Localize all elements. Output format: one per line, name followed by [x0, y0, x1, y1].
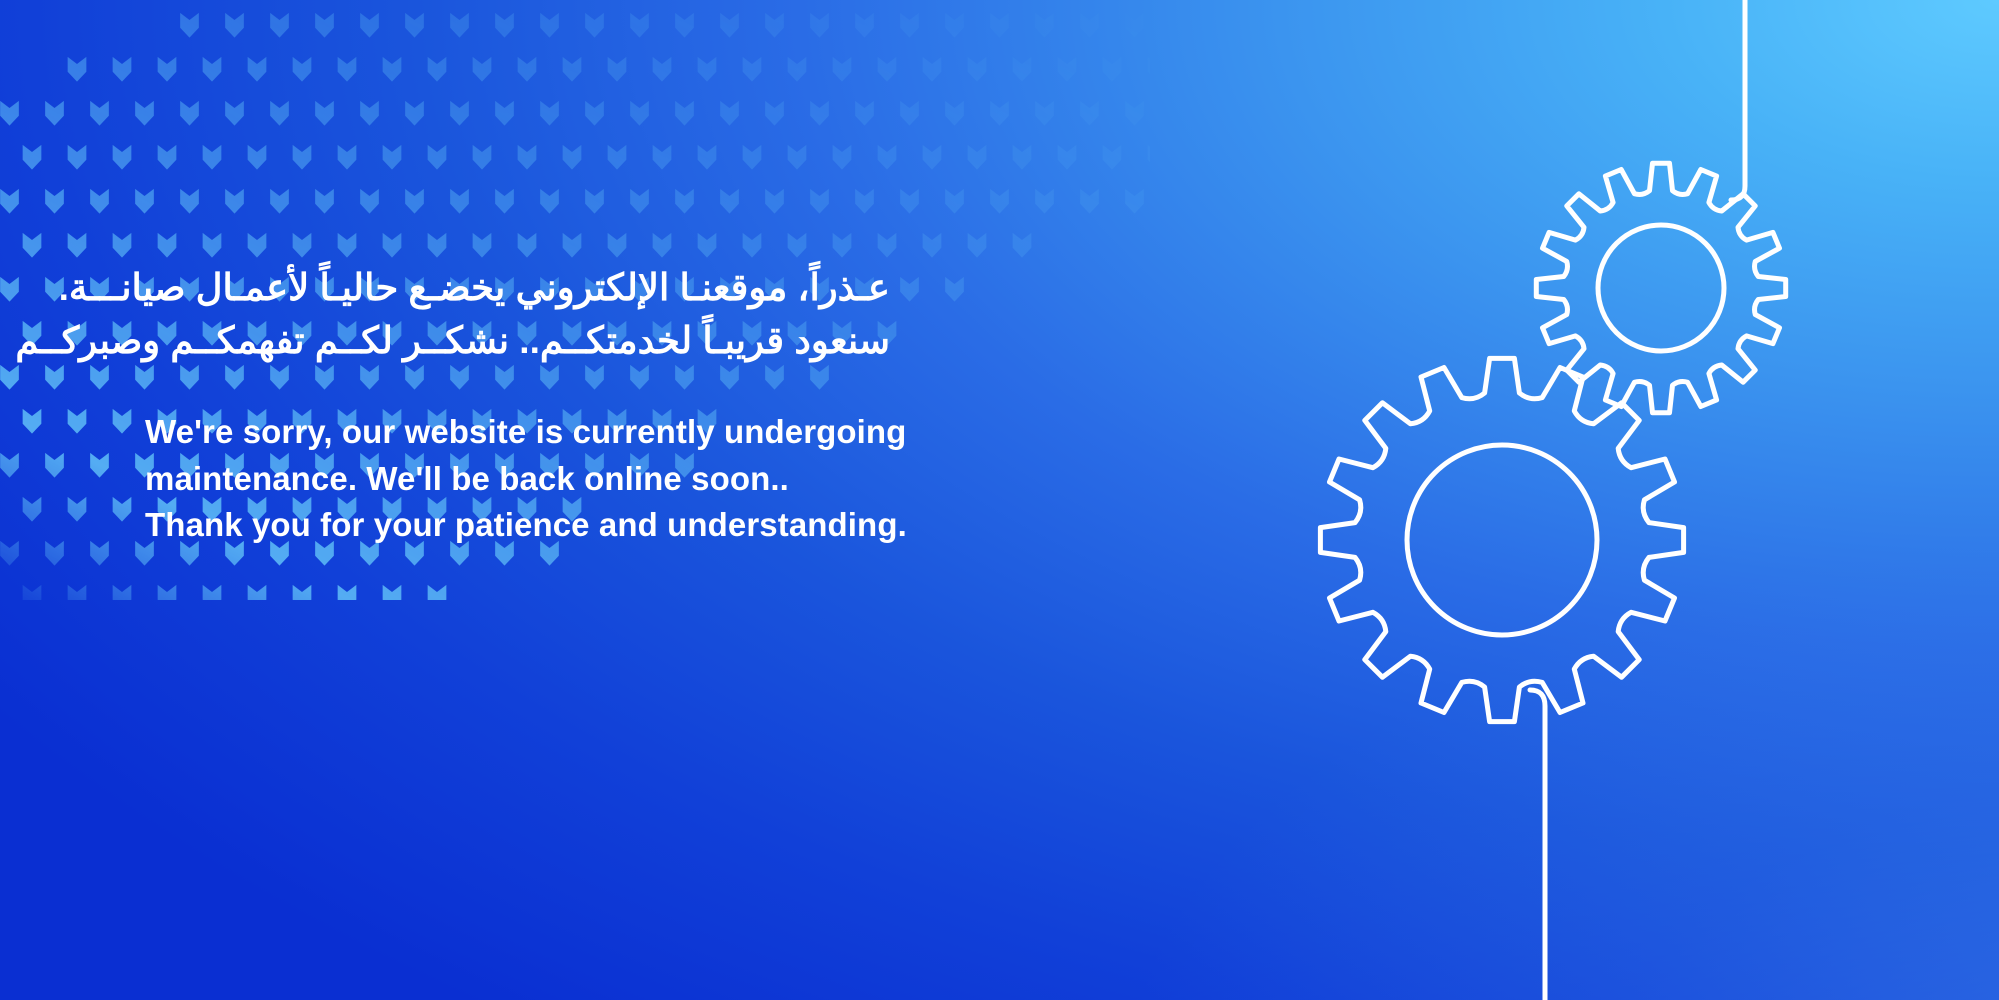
english-line-1: We're sorry, our website is currently un…: [145, 409, 905, 456]
arabic-message: عـذراً، موقعنـا الإلكتروني يخضـع حاليـاً…: [145, 262, 890, 367]
english-message: We're sorry, our website is currently un…: [145, 409, 905, 549]
gear-small: [1536, 163, 1785, 412]
gear-connector-line-bottom: [1530, 690, 1545, 1000]
maintenance-page: عـذراً، موقعنـا الإلكتروني يخضـع حاليـاً…: [0, 0, 1999, 1000]
gear-large: [1320, 358, 1683, 721]
english-line-3: Thank you for your patience and understa…: [145, 502, 905, 549]
arabic-line-1: عـذراً، موقعنـا الإلكتروني يخضـع حاليـاً…: [145, 262, 890, 315]
gear-large-hub: [1407, 445, 1597, 635]
message-block: عـذراً، موقعنـا الإلكتروني يخضـع حاليـاً…: [145, 262, 905, 549]
gear-connector-line-top: [1731, 0, 1745, 200]
gear-small-hub: [1598, 225, 1724, 351]
english-line-2: maintenance. We'll be back online soon..: [145, 456, 905, 503]
arabic-line-2: سنعود قريبـاً لخدمتكــم.. نشكــر لكــم ت…: [145, 315, 890, 368]
